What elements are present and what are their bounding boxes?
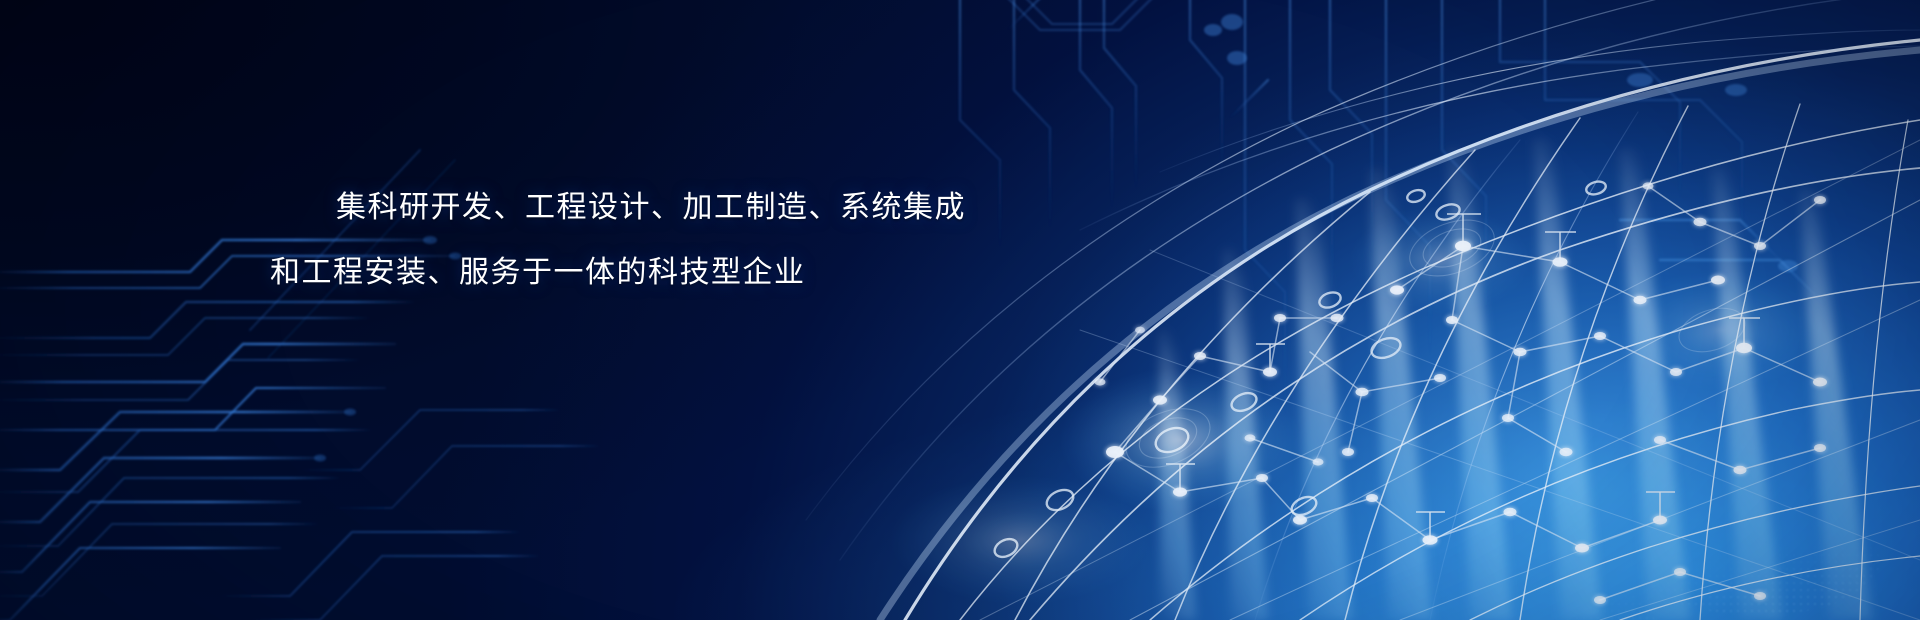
headline-line-1: 集科研开发、工程设计、加工制造、系统集成	[336, 193, 970, 223]
hero-banner: 集科研开发、工程设计、加工制造、系统集成 和工程安装、服务于一体的科技型企业	[0, 0, 1920, 620]
headline-line-2: 和工程安装、服务于一体的科技型企业	[270, 258, 970, 288]
headline-block: 集科研开发、工程设计、加工制造、系统集成 和工程安装、服务于一体的科技型企业	[270, 193, 970, 288]
vignette-overlay	[0, 0, 1920, 620]
